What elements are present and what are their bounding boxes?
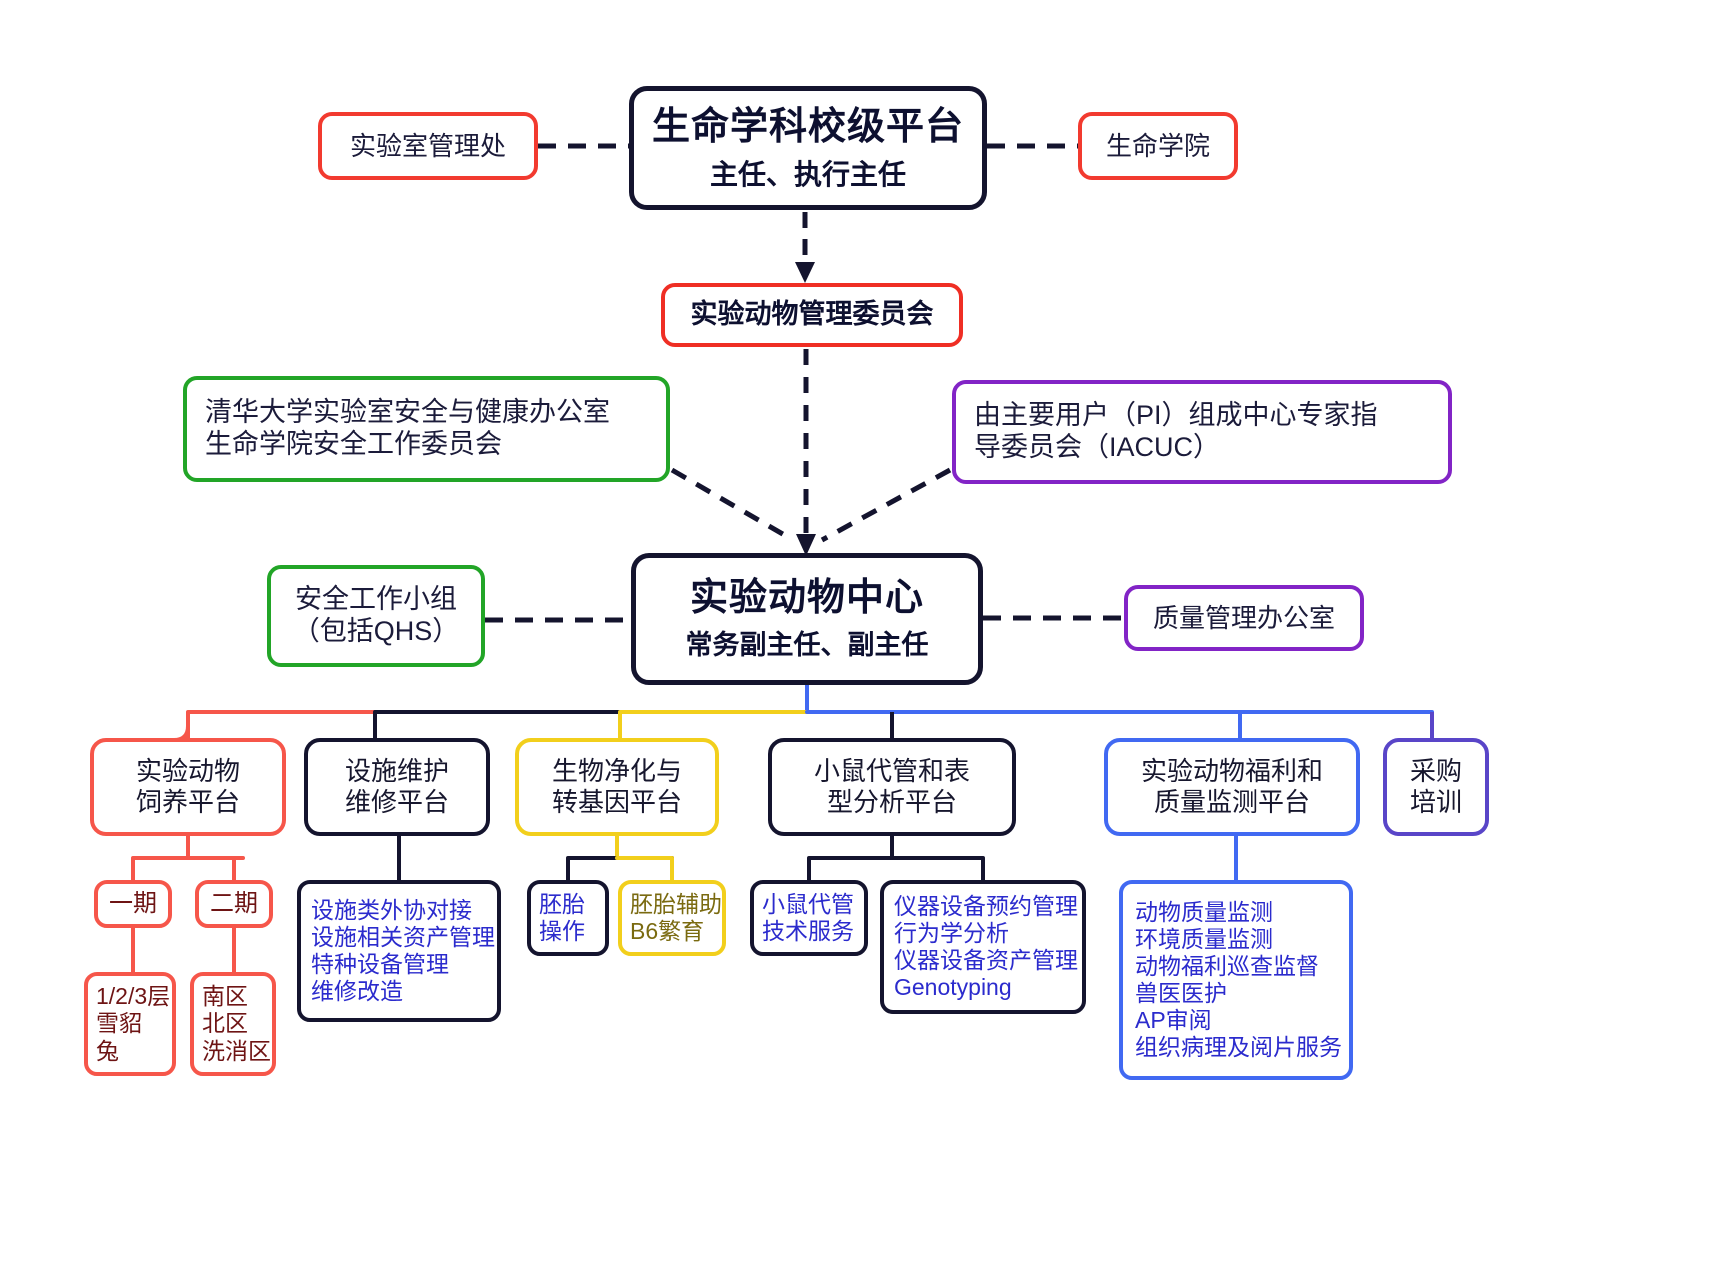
- pi-committee-line1: 由主要用户（PI）组成中心专家指: [974, 400, 1378, 432]
- center-title: 实验动物中心: [690, 576, 924, 621]
- safety-office-line1: 清华大学实验室安全与健康办公室: [205, 397, 610, 429]
- platform-purchase-line1: 采购: [1410, 756, 1462, 787]
- life-science-college-label: 生命学院: [1106, 131, 1210, 162]
- node-instrument-duties[interactable]: 仪器设备预约管理 行为学分析 仪器设备资产管理 Genotyping: [880, 880, 1086, 1014]
- phase-1-area-2: 兔: [96, 1038, 119, 1065]
- lab-management-office-label: 实验室管理处: [350, 131, 506, 162]
- welfare-duty-2: 动物福利巡查监督: [1135, 953, 1319, 980]
- platform-biopurification-line1: 生物净化与: [552, 756, 682, 787]
- facility-duty-1: 设施相关资产管理: [311, 924, 495, 951]
- welfare-duty-1: 环境质量监测: [1135, 926, 1273, 953]
- embryo-assisted-b6-line1: 胚胎辅助: [630, 891, 722, 918]
- node-lab-management-office[interactable]: 实验室管理处: [318, 112, 538, 180]
- node-platform-breeding[interactable]: 实验动物 饲养平台: [90, 738, 286, 836]
- embryo-assisted-b6-line2: B6繁育: [630, 918, 704, 945]
- phase-2-label: 二期: [210, 890, 258, 918]
- mouse-custody-line2: 技术服务: [762, 918, 854, 945]
- platform-welfare-line1: 实验动物福利和: [1141, 756, 1323, 787]
- platform-breeding-line2: 饲养平台: [136, 787, 240, 818]
- instrument-duty-2: 仪器设备资产管理: [894, 947, 1078, 974]
- node-welfare-duties[interactable]: 动物质量监测 环境质量监测 动物福利巡查监督 兽医医护 AP审阅 组织病理及阅片…: [1119, 880, 1353, 1080]
- instrument-duty-0: 仪器设备预约管理: [894, 893, 1078, 920]
- welfare-duty-0: 动物质量监测: [1135, 899, 1273, 926]
- welfare-duty-3: 兽医医护: [1135, 980, 1227, 1007]
- node-root-platform[interactable]: 生命学科校级平台 主任、执行主任: [629, 86, 987, 210]
- instrument-duty-3: Genotyping: [894, 974, 1012, 1001]
- phase-1-area-0: 1/2/3层: [96, 983, 170, 1010]
- pi-committee-line2: 导委员会（IACUC）: [974, 432, 1220, 464]
- phase-2-area-2: 洗消区: [202, 1038, 271, 1065]
- platform-phenotype-line1: 小鼠代管和表: [814, 756, 970, 787]
- node-platform-welfare[interactable]: 实验动物福利和 质量监测平台: [1104, 738, 1360, 836]
- facility-duty-3: 维修改造: [311, 978, 403, 1005]
- node-facility-duties[interactable]: 设施类外协对接 设施相关资产管理 特种设备管理 维修改造: [297, 880, 501, 1022]
- facility-duty-2: 特种设备管理: [311, 951, 449, 978]
- node-safety-working-group[interactable]: 安全工作小组 （包括QHS）: [267, 565, 485, 667]
- phase-2-area-1: 北区: [202, 1010, 248, 1037]
- org-chart-canvas: 生命学科校级平台 主任、执行主任 实验室管理处 生命学院 实验动物管理委员会 清…: [0, 0, 1711, 1274]
- node-safety-health-office[interactable]: 清华大学实验室安全与健康办公室 生命学院安全工作委员会: [183, 376, 670, 482]
- platform-welfare-line2: 质量监测平台: [1154, 787, 1310, 818]
- embryo-operation-line1: 胚胎: [539, 891, 585, 918]
- node-pi-expert-committee[interactable]: 由主要用户（PI）组成中心专家指 导委员会（IACUC）: [952, 380, 1452, 484]
- platform-biopurification-line2: 转基因平台: [552, 787, 682, 818]
- platform-facility-line2: 维修平台: [345, 787, 449, 818]
- node-platform-phenotype[interactable]: 小鼠代管和表 型分析平台: [768, 738, 1016, 836]
- node-embryo-operation[interactable]: 胚胎 操作: [527, 880, 609, 956]
- embryo-operation-line2: 操作: [539, 918, 585, 945]
- mouse-custody-line1: 小鼠代管: [762, 891, 854, 918]
- center-subtitle: 常务副主任、副主任: [686, 630, 929, 662]
- node-mouse-custody-service[interactable]: 小鼠代管 技术服务: [750, 880, 868, 956]
- safety-group-line2: （包括QHS）: [293, 616, 460, 648]
- animal-management-committee-label: 实验动物管理委员会: [691, 299, 934, 331]
- node-quality-management-office[interactable]: 质量管理办公室: [1124, 585, 1364, 651]
- platform-phenotype-line2: 型分析平台: [827, 787, 957, 818]
- node-phase-2-areas[interactable]: 南区 北区 洗消区: [190, 972, 276, 1076]
- node-platform-biopurification[interactable]: 生物净化与 转基因平台: [515, 738, 719, 836]
- safety-group-line1: 安全工作小组: [295, 584, 457, 616]
- platform-purchase-line2: 培训: [1410, 787, 1462, 818]
- node-embryo-assisted-b6[interactable]: 胚胎辅助 B6繁育: [618, 880, 726, 956]
- node-phase-1[interactable]: 一期: [94, 880, 172, 928]
- node-platform-facility[interactable]: 设施维护 维修平台: [304, 738, 490, 836]
- phase-2-area-0: 南区: [202, 983, 248, 1010]
- platform-breeding-line1: 实验动物: [136, 756, 240, 787]
- node-life-science-college[interactable]: 生命学院: [1078, 112, 1238, 180]
- node-phase-2[interactable]: 二期: [195, 880, 273, 928]
- quality-management-office-label: 质量管理办公室: [1153, 603, 1335, 634]
- node-laboratory-animal-center[interactable]: 实验动物中心 常务副主任、副主任: [631, 553, 983, 685]
- welfare-duty-5: 组织病理及阅片服务: [1135, 1034, 1342, 1061]
- root-title: 生命学科校级平台: [652, 105, 964, 150]
- root-subtitle: 主任、执行主任: [710, 158, 906, 191]
- phase-1-label: 一期: [109, 890, 157, 918]
- node-platform-purchase-training[interactable]: 采购 培训: [1383, 738, 1489, 836]
- platform-facility-line1: 设施维护: [345, 756, 449, 787]
- safety-office-line2: 生命学院安全工作委员会: [205, 429, 502, 461]
- facility-duty-0: 设施类外协对接: [311, 897, 472, 924]
- node-phase-1-areas[interactable]: 1/2/3层 雪貂 兔: [84, 972, 176, 1076]
- instrument-duty-1: 行为学分析: [894, 920, 1009, 947]
- node-animal-management-committee[interactable]: 实验动物管理委员会: [661, 283, 963, 347]
- phase-1-area-1: 雪貂: [96, 1010, 142, 1037]
- welfare-duty-4: AP审阅: [1135, 1007, 1212, 1034]
